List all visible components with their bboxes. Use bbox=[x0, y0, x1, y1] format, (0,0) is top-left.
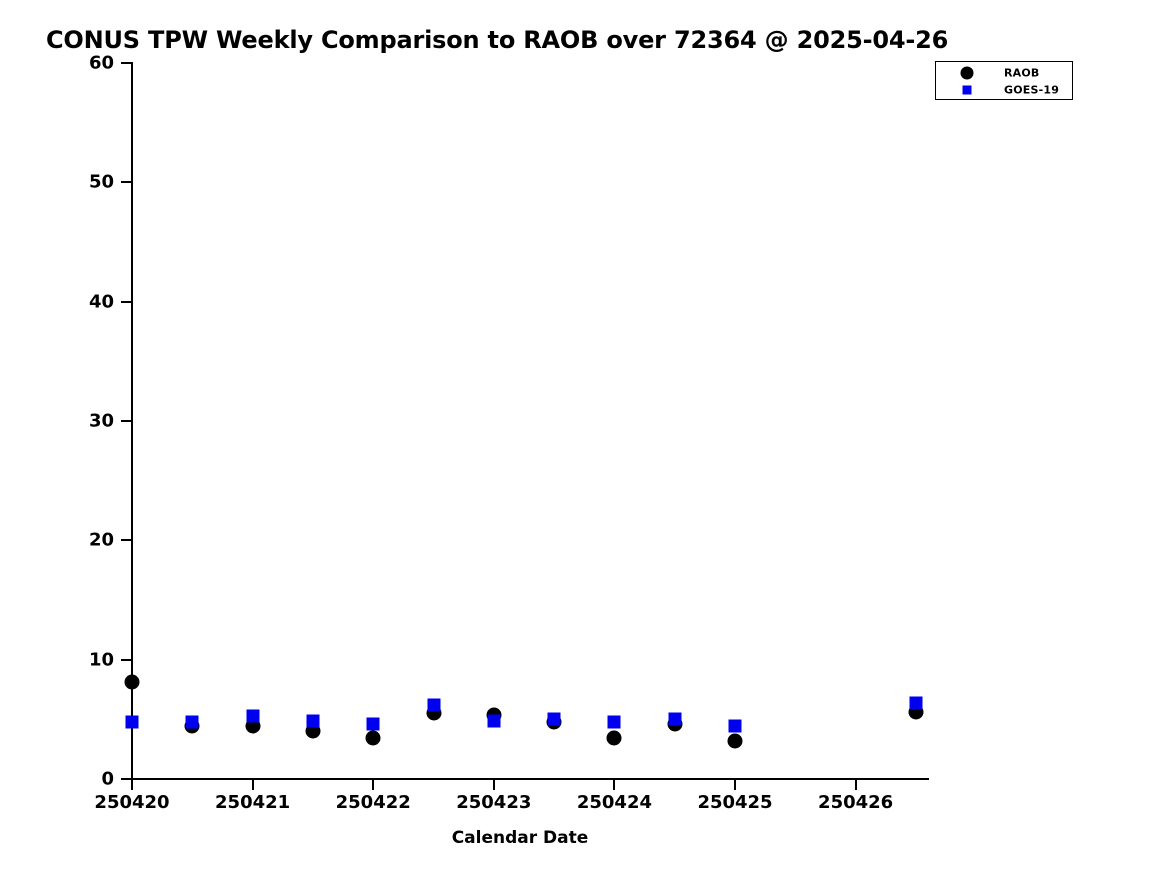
x-tick-label: 250425 bbox=[697, 792, 772, 813]
x-tick-label: 250422 bbox=[336, 792, 411, 813]
chart-page: CONUS TPW Weekly Comparison to RAOB over… bbox=[0, 0, 1167, 875]
x-tick-label: 250426 bbox=[818, 792, 893, 813]
y-tick-mark: 30 bbox=[121, 420, 132, 422]
data-point-goes-19 bbox=[608, 715, 621, 728]
legend-label-raob: RAOB bbox=[1004, 66, 1040, 79]
y-tick-mark: 50 bbox=[121, 181, 132, 183]
y-tick-label: 50 bbox=[89, 172, 114, 193]
data-point-goes-19 bbox=[186, 715, 199, 728]
y-tick-mark: 40 bbox=[121, 301, 132, 303]
x-tick-label: 250424 bbox=[577, 792, 652, 813]
data-point-goes-19 bbox=[427, 699, 440, 712]
legend-item-raob: RAOB bbox=[936, 64, 1072, 81]
data-point-raob bbox=[728, 733, 743, 748]
y-tick-label: 60 bbox=[89, 53, 114, 74]
x-tick-label: 250423 bbox=[456, 792, 531, 813]
data-point-raob bbox=[125, 675, 140, 690]
page-title: CONUS TPW Weekly Comparison to RAOB over… bbox=[46, 26, 948, 54]
legend-label-goes19: GOES-19 bbox=[1004, 83, 1059, 96]
x-tick-mark bbox=[252, 779, 254, 790]
data-point-goes-19 bbox=[246, 709, 259, 722]
x-tick-label: 250420 bbox=[94, 792, 169, 813]
data-point-goes-19 bbox=[487, 714, 500, 727]
raob-marker-icon bbox=[961, 66, 974, 79]
x-tick-mark bbox=[855, 779, 857, 790]
y-tick-mark: 10 bbox=[121, 659, 132, 661]
data-point-goes-19 bbox=[126, 715, 139, 728]
data-point-goes-19 bbox=[367, 718, 380, 731]
x-tick-mark bbox=[131, 779, 133, 790]
y-tick-mark: 20 bbox=[121, 539, 132, 541]
data-point-goes-19 bbox=[729, 720, 742, 733]
data-point-raob bbox=[366, 731, 381, 746]
y-tick-label: 20 bbox=[89, 530, 114, 551]
legend: RAOB GOES-19 bbox=[935, 61, 1073, 100]
data-point-goes-19 bbox=[548, 713, 561, 726]
data-point-raob bbox=[607, 731, 622, 746]
y-tick-label: 0 bbox=[101, 769, 114, 790]
y-tick-mark: 60 bbox=[121, 62, 132, 64]
x-tick-mark bbox=[493, 779, 495, 790]
x-tick-mark bbox=[613, 779, 615, 790]
y-tick-label: 10 bbox=[89, 649, 114, 670]
x-tick-mark bbox=[734, 779, 736, 790]
x-axis-title: Calendar Date bbox=[0, 828, 1040, 848]
data-point-goes-19 bbox=[668, 713, 681, 726]
y-tick-label: 30 bbox=[89, 411, 114, 432]
x-tick-mark bbox=[372, 779, 374, 790]
y-tick-label: 40 bbox=[89, 291, 114, 312]
data-point-goes-19 bbox=[306, 714, 319, 727]
plot-area bbox=[132, 63, 928, 779]
data-point-goes-19 bbox=[909, 696, 922, 709]
legend-item-goes19: GOES-19 bbox=[936, 81, 1072, 98]
goes19-marker-icon bbox=[963, 85, 972, 94]
x-tick-label: 250421 bbox=[215, 792, 290, 813]
